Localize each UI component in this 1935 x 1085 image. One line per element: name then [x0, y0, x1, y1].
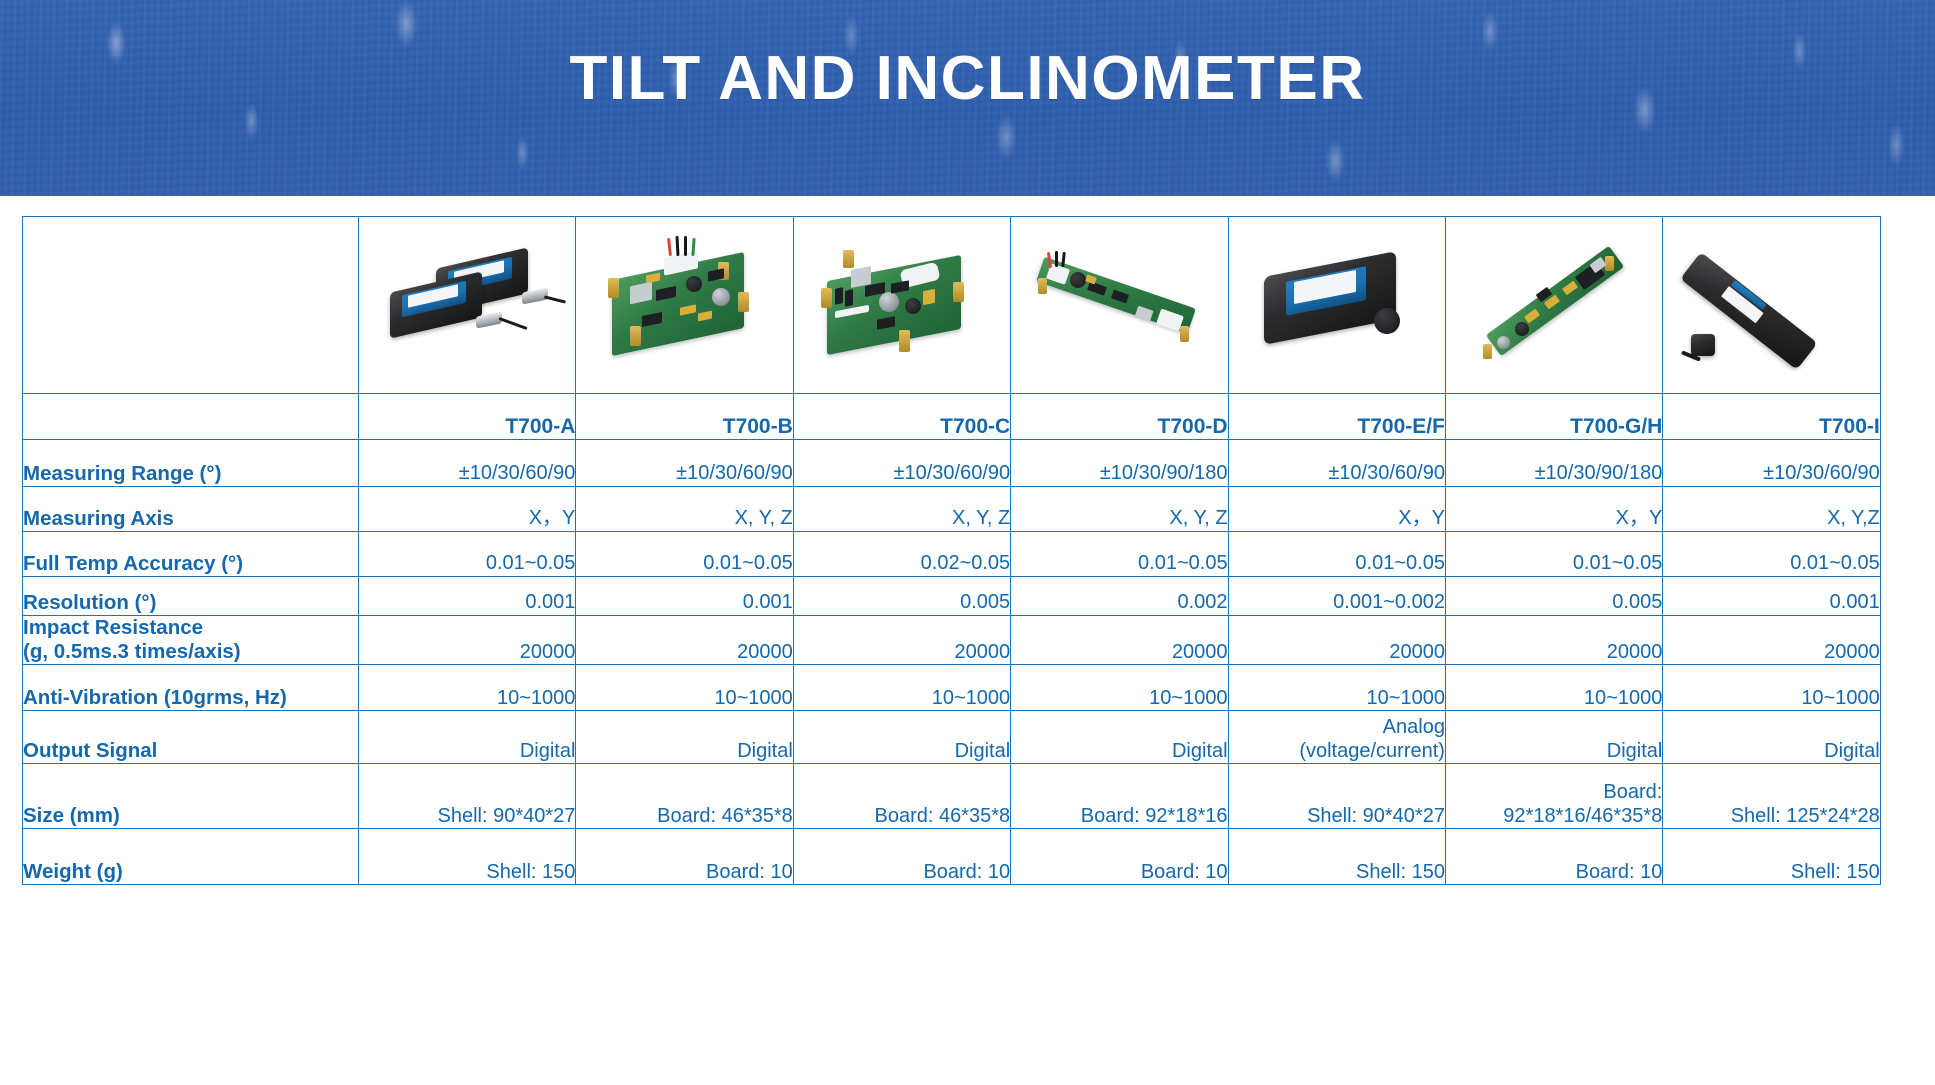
cell-size-t700-b: Board: 46*35*8: [576, 764, 793, 829]
table-row-anti-vibration: Anti-Vibration (10grms, Hz) 10~1000 10~1…: [23, 665, 1881, 711]
page-header-banner: TILT AND INCLINOMETER: [0, 0, 1935, 196]
cell-measuring-range-t700-d: ±10/30/90/180: [1011, 440, 1228, 487]
cell-measuring-axis-t700-gh: X，Y: [1445, 487, 1662, 532]
cell-anti-vibration-t700-ef: 10~1000: [1228, 665, 1445, 711]
cell-resolution-t700-i: 0.001: [1663, 577, 1880, 616]
cell-size-t700-gh: Board: 92*18*16/46*35*8: [1445, 764, 1662, 829]
cell-anti-vibration-t700-d: 10~1000: [1011, 665, 1228, 711]
black-enclosure-dual-sensor-photo: [372, 230, 562, 380]
cell-measuring-range-t700-a: ±10/30/60/90: [359, 440, 576, 487]
cell-resolution-t700-gh: 0.005: [1445, 577, 1662, 616]
cell-output-signal-t700-gh: Digital: [1445, 711, 1662, 764]
product-image-cell-t700-d: [1011, 217, 1228, 394]
model-name-t700-ef: T700-E/F: [1228, 394, 1445, 440]
cell-measuring-range-t700-gh: ±10/30/90/180: [1445, 440, 1662, 487]
cell-measuring-axis-t700-ef: X，Y: [1228, 487, 1445, 532]
cell-impact-resistance-t700-gh: 20000: [1445, 616, 1662, 665]
cell-size-t700-i: Shell: 125*24*28: [1663, 764, 1880, 829]
row-label-impact-resistance: Impact Resistance (g, 0.5ms.3 times/axis…: [23, 616, 359, 665]
model-name-row: T700-A T700-B T700-C T700-D T700-E/F T70…: [23, 394, 1881, 440]
cell-anti-vibration-t700-gh: 10~1000: [1445, 665, 1662, 711]
cell-full-temp-accuracy-t700-c: 0.02~0.05: [793, 532, 1010, 577]
cell-output-signal-t700-i: Digital: [1663, 711, 1880, 764]
product-image-cell-t700-ef: [1228, 217, 1445, 394]
cell-measuring-axis-t700-a: X，Y: [359, 487, 576, 532]
row-label-impact-resistance-line2: (g, 0.5ms.3 times/axis): [23, 640, 358, 664]
model-name-t700-a: T700-A: [359, 394, 576, 440]
cell-resolution-t700-c: 0.005: [793, 577, 1010, 616]
cell-impact-resistance-t700-a: 20000: [359, 616, 576, 665]
green-pcb-long-strip-board-photo: [1024, 230, 1214, 380]
row-label-size: Size (mm): [23, 764, 359, 829]
cell-full-temp-accuracy-t700-i: 0.01~0.05: [1663, 532, 1880, 577]
table-row-full-temp-accuracy: Full Temp Accuracy (°) 0.01~0.05 0.01~0.…: [23, 532, 1881, 577]
row-label-full-temp-accuracy: Full Temp Accuracy (°): [23, 532, 359, 577]
model-name-t700-d: T700-D: [1011, 394, 1228, 440]
cell-resolution-t700-a: 0.001: [359, 577, 576, 616]
row-label-resolution: Resolution (°): [23, 577, 359, 616]
cell-full-temp-accuracy-t700-ef: 0.01~0.05: [1228, 532, 1445, 577]
cell-full-temp-accuracy-t700-gh: 0.01~0.05: [1445, 532, 1662, 577]
cell-resolution-t700-b: 0.001: [576, 577, 793, 616]
model-name-t700-i: T700-I: [1663, 394, 1880, 440]
product-image-cell-t700-c: [793, 217, 1010, 394]
page-title: TILT AND INCLINOMETER: [0, 43, 1935, 114]
row-label-weight: Weight (g): [23, 829, 359, 885]
cell-weight-t700-a: Shell: 150: [359, 829, 576, 885]
cell-size-t700-ef: Shell: 90*40*27: [1228, 764, 1445, 829]
cell-size-t700-a: Shell: 90*40*27: [359, 764, 576, 829]
green-pcb-slim-strip-board-photo: [1459, 230, 1649, 380]
cell-measuring-axis-t700-c: X, Y, Z: [793, 487, 1010, 532]
cell-full-temp-accuracy-t700-b: 0.01~0.05: [576, 532, 793, 577]
table-row-measuring-range: Measuring Range (°) ±10/30/60/90 ±10/30/…: [23, 440, 1881, 487]
model-row-corner: [23, 394, 359, 440]
row-label-anti-vibration: Anti-Vibration (10grms, Hz): [23, 665, 359, 711]
spec-table-container: T700-A T700-B T700-C T700-D T700-E/F T70…: [22, 216, 1880, 885]
cell-measuring-range-t700-ef: ±10/30/60/90: [1228, 440, 1445, 487]
table-corner-cell: [23, 217, 359, 394]
row-label-impact-resistance-line1: Impact Resistance: [23, 616, 358, 640]
green-pcb-square-board-white-connector-photo: [807, 230, 997, 380]
cell-impact-resistance-t700-d: 20000: [1011, 616, 1228, 665]
cell-measuring-axis-t700-i: X, Y,Z: [1663, 487, 1880, 532]
cell-output-signal-t700-ef: Analog (voltage/current): [1228, 711, 1445, 764]
row-label-measuring-axis: Measuring Axis: [23, 487, 359, 532]
cell-anti-vibration-t700-b: 10~1000: [576, 665, 793, 711]
model-name-t700-c: T700-C: [793, 394, 1010, 440]
cell-output-signal-t700-c: Digital: [793, 711, 1010, 764]
cell-full-temp-accuracy-t700-a: 0.01~0.05: [359, 532, 576, 577]
cell-output-signal-t700-ef-line2: (voltage/current): [1229, 740, 1445, 764]
table-row-impact-resistance: Impact Resistance (g, 0.5ms.3 times/axis…: [23, 616, 1881, 665]
table-row-measuring-axis: Measuring Axis X，Y X, Y, Z X, Y, Z X, Y,…: [23, 487, 1881, 532]
cell-size-t700-d: Board: 92*18*16: [1011, 764, 1228, 829]
cell-anti-vibration-t700-i: 10~1000: [1663, 665, 1880, 711]
cell-measuring-range-t700-b: ±10/30/60/90: [576, 440, 793, 487]
cell-weight-t700-gh: Board: 10: [1445, 829, 1662, 885]
cell-measuring-range-t700-i: ±10/30/60/90: [1663, 440, 1880, 487]
product-image-cell-t700-i: [1663, 217, 1880, 394]
cell-output-signal-t700-a: Digital: [359, 711, 576, 764]
cell-size-t700-gh-line1: Board:: [1446, 781, 1662, 805]
table-row-size: Size (mm) Shell: 90*40*27 Board: 46*35*8…: [23, 764, 1881, 829]
specification-table: T700-A T700-B T700-C T700-D T700-E/F T70…: [22, 216, 1881, 885]
green-pcb-square-board-photo: [590, 230, 780, 380]
cell-weight-t700-i: Shell: 150: [1663, 829, 1880, 885]
cell-impact-resistance-t700-b: 20000: [576, 616, 793, 665]
table-row-weight: Weight (g) Shell: 150 Board: 10 Board: 1…: [23, 829, 1881, 885]
cell-measuring-axis-t700-b: X, Y, Z: [576, 487, 793, 532]
cell-size-t700-gh-line2: 92*18*16/46*35*8: [1446, 805, 1662, 829]
cell-output-signal-t700-d: Digital: [1011, 711, 1228, 764]
cell-impact-resistance-t700-ef: 20000: [1228, 616, 1445, 665]
table-row-output-signal: Output Signal Digital Digital Digital Di…: [23, 711, 1881, 764]
cell-impact-resistance-t700-c: 20000: [793, 616, 1010, 665]
product-image-cell-t700-gh: [1445, 217, 1662, 394]
cell-resolution-t700-ef: 0.001~0.002: [1228, 577, 1445, 616]
cell-weight-t700-ef: Shell: 150: [1228, 829, 1445, 885]
cell-weight-t700-b: Board: 10: [576, 829, 793, 885]
cell-full-temp-accuracy-t700-d: 0.01~0.05: [1011, 532, 1228, 577]
black-long-frame-probe-photo: [1677, 230, 1867, 380]
cell-resolution-t700-d: 0.002: [1011, 577, 1228, 616]
model-name-t700-b: T700-B: [576, 394, 793, 440]
black-enclosure-single-connector-photo: [1242, 230, 1432, 380]
cell-output-signal-t700-b: Digital: [576, 711, 793, 764]
cell-weight-t700-c: Board: 10: [793, 829, 1010, 885]
table-row-resolution: Resolution (°) 0.001 0.001 0.005 0.002 0…: [23, 577, 1881, 616]
product-image-cell-t700-a: [359, 217, 576, 394]
cell-measuring-range-t700-c: ±10/30/60/90: [793, 440, 1010, 487]
cell-anti-vibration-t700-a: 10~1000: [359, 665, 576, 711]
row-label-output-signal: Output Signal: [23, 711, 359, 764]
cell-anti-vibration-t700-c: 10~1000: [793, 665, 1010, 711]
product-image-cell-t700-b: [576, 217, 793, 394]
cell-measuring-axis-t700-d: X, Y, Z: [1011, 487, 1228, 532]
cell-impact-resistance-t700-i: 20000: [1663, 616, 1880, 665]
product-image-row: [23, 217, 1881, 394]
row-label-measuring-range: Measuring Range (°): [23, 440, 359, 487]
cell-size-t700-c: Board: 46*35*8: [793, 764, 1010, 829]
model-name-t700-gh: T700-G/H: [1445, 394, 1662, 440]
cell-output-signal-t700-ef-line1: Analog: [1229, 716, 1445, 740]
cell-weight-t700-d: Board: 10: [1011, 829, 1228, 885]
